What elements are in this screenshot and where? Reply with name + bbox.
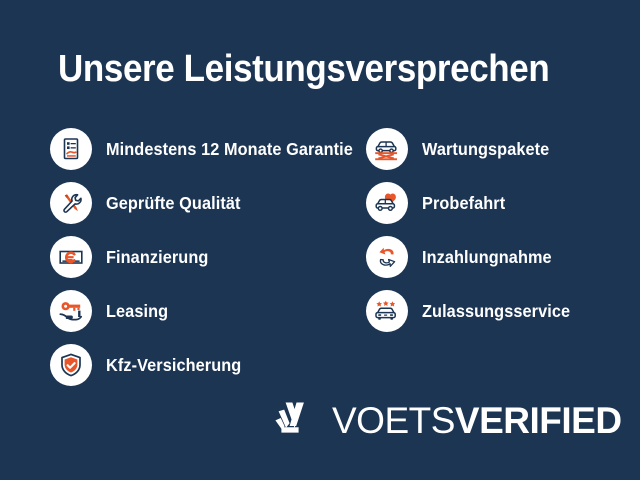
- page-title: Unsere Leistungsversprechen: [58, 48, 549, 91]
- feature-label: Zulassungsservice: [422, 301, 570, 322]
- feature-column-right: Wartungspakete Probefahrt: [333, 122, 640, 392]
- feature-item-zulassungsservice: Zulassungsservice: [366, 284, 640, 338]
- feature-label: Leasing: [106, 301, 168, 322]
- car-lift-icon: [366, 128, 408, 170]
- feature-label: Wartungspakete: [422, 139, 549, 160]
- feature-item-versicherung: Kfz-Versicherung: [50, 338, 333, 392]
- hand-key-icon: [50, 290, 92, 332]
- feature-label: Probefahrt: [422, 193, 505, 214]
- voets-verified-logo: VOETSVERIFIED: [272, 396, 622, 445]
- feature-item-garantie: Mindestens 12 Monate Garantie: [50, 122, 333, 176]
- feature-label: Inzahlungnahme: [422, 247, 552, 268]
- promo-banner: Unsere Leistungsversprechen Mindestens: [0, 0, 640, 480]
- feature-item-wartungspakete: Wartungspakete: [366, 122, 640, 176]
- logo-voets: VOETS: [332, 400, 455, 441]
- feature-item-leasing: Leasing: [50, 284, 333, 338]
- logo-wordmark: VOETSVERIFIED: [332, 402, 622, 439]
- wrench-screwdriver-icon: [50, 182, 92, 224]
- shield-check-icon: [50, 344, 92, 386]
- logo-verified: VERIFIED: [455, 400, 622, 441]
- voets-v-mark-icon: [272, 396, 316, 445]
- feature-label: Geprüfte Qualität: [106, 193, 241, 214]
- feature-item-probefahrt: Probefahrt: [366, 176, 640, 230]
- feature-label: Mindestens 12 Monate Garantie: [106, 139, 353, 160]
- feature-column-left: Mindestens 12 Monate Garantie Geprüfte Q…: [0, 122, 333, 392]
- feature-columns: Mindestens 12 Monate Garantie Geprüfte Q…: [0, 122, 640, 392]
- feature-label: Kfz-Versicherung: [106, 355, 241, 376]
- document-signature-icon: [50, 128, 92, 170]
- feature-item-qualitaet: Geprüfte Qualität: [50, 176, 333, 230]
- exchange-arrows-icon: [366, 236, 408, 278]
- feature-label: Finanzierung: [106, 247, 208, 268]
- feature-item-finanzierung: Finanzierung: [50, 230, 333, 284]
- car-stars-icon: [366, 290, 408, 332]
- feature-item-inzahlungnahme: Inzahlungnahme: [366, 230, 640, 284]
- car-heart-icon: [366, 182, 408, 224]
- banknote-euro-icon: [50, 236, 92, 278]
